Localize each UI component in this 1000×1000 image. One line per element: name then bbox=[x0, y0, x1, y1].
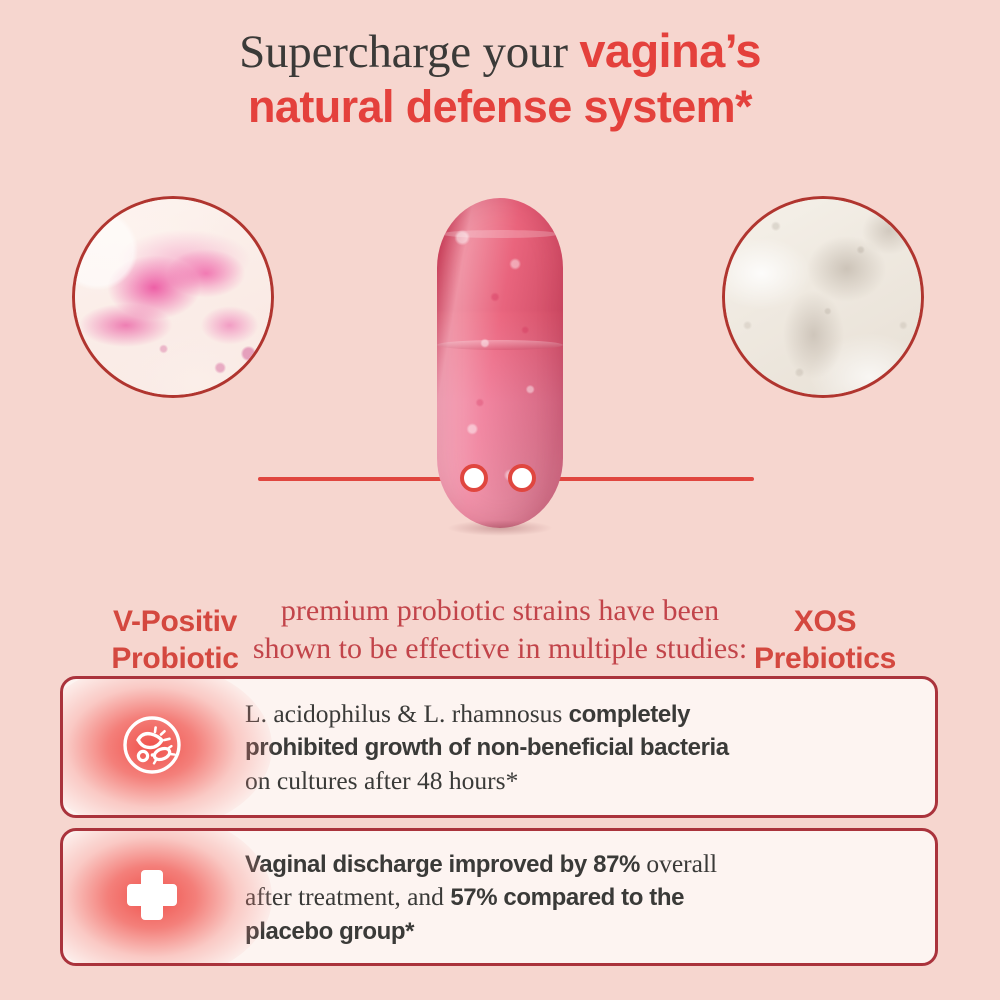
bacteria-circle-icon bbox=[121, 714, 183, 781]
claim-card-discharge: Vaginal discharge improved by 87% overal… bbox=[60, 828, 938, 966]
capsule-seam bbox=[437, 340, 563, 350]
headline-red-text-2: natural defense system* bbox=[0, 83, 1000, 131]
headline-line-1: Supercharge your vagina’s bbox=[0, 26, 1000, 78]
text-normal: overall bbox=[640, 849, 717, 878]
xos-powder-photo bbox=[722, 196, 924, 398]
connector-dot-left bbox=[460, 464, 488, 492]
text-normal: after treatment, and bbox=[245, 882, 450, 911]
capsule-photo bbox=[437, 198, 563, 528]
capsule-shadow bbox=[447, 520, 553, 536]
claim-card-bacteria-text: L. acidophilus & L. rhamnosus completely… bbox=[241, 691, 747, 803]
claim-card-discharge-text: Vaginal discharge improved by 87% overal… bbox=[241, 841, 735, 953]
capsule-body bbox=[437, 198, 563, 528]
capsule-top-ring bbox=[441, 230, 559, 238]
ingredient-diagram: V-Positiv Probiotic Blendˆ XOS Prebiotic… bbox=[0, 180, 1000, 560]
headline-red-text-1: vagina’s bbox=[579, 24, 761, 77]
promo-graphic: Supercharge your vagina’s natural defens… bbox=[0, 0, 1000, 1000]
text-normal: L. acidophilus & L. rhamnosus bbox=[245, 699, 569, 728]
page-title: Supercharge your vagina’s natural defens… bbox=[0, 26, 1000, 131]
text-emphasis: Vaginal discharge improved by 87% bbox=[245, 851, 640, 878]
probiotic-culture-texture bbox=[75, 199, 271, 395]
studies-subtitle-line-2: shown to be effective in multiple studie… bbox=[253, 632, 747, 665]
connector-dot-right bbox=[508, 464, 536, 492]
xos-powder-texture bbox=[725, 199, 921, 395]
claim-card-bacteria: L. acidophilus & L. rhamnosus completely… bbox=[60, 676, 938, 818]
text-emphasis: placebo group* bbox=[245, 918, 414, 945]
probiotic-culture-photo bbox=[72, 196, 274, 398]
headline-dark-text: Supercharge your bbox=[239, 26, 579, 78]
claim-card-bacteria-icon-cell bbox=[63, 679, 241, 815]
text-emphasis: prohibited growth of non-beneficial bact… bbox=[245, 734, 729, 761]
studies-subtitle: premium probiotic strains have been show… bbox=[120, 592, 880, 669]
studies-subtitle-line-1: premium probiotic strains have been bbox=[281, 594, 719, 627]
text-normal: on cultures after 48 hours* bbox=[245, 766, 518, 795]
text-emphasis: completely bbox=[569, 701, 690, 728]
claim-card-discharge-icon-cell bbox=[63, 831, 241, 963]
medical-cross-icon bbox=[121, 864, 183, 931]
text-emphasis: 57% compared to the bbox=[450, 884, 684, 911]
